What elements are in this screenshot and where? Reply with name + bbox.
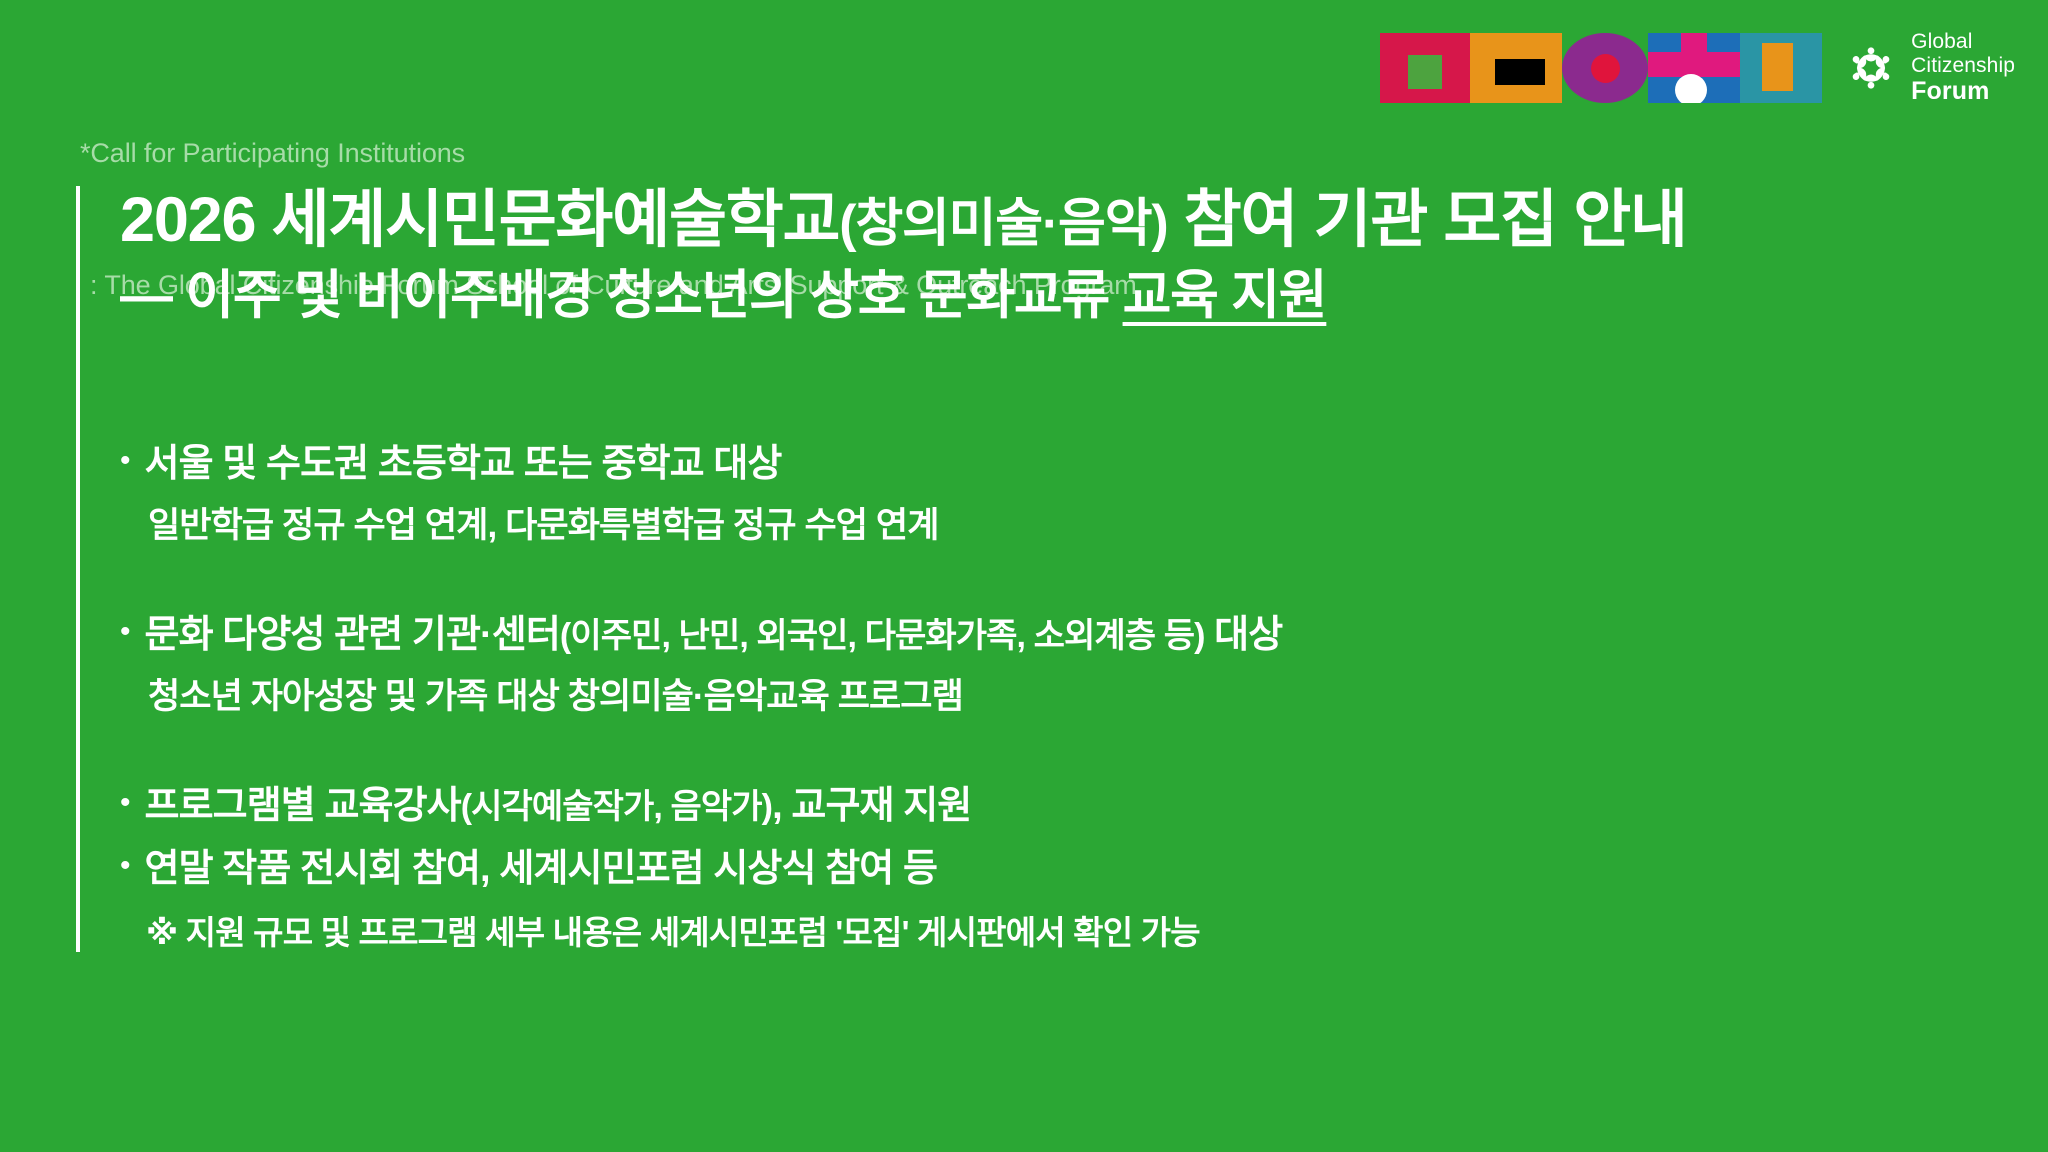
footnote-text: ※ 지원 규모 및 프로그램 세부 내용은 세계시민포럼 '모집' 게시판에서 …	[146, 914, 1200, 951]
kicker-line-1: *Call for Participating Institutions	[80, 132, 1137, 176]
headline-line-1-paren: (창의미술·음악)	[839, 195, 1167, 253]
left-vertical-rule	[76, 186, 80, 952]
bullet-text-2-main: 문화 다양성 관련 기관·센터	[145, 614, 560, 656]
bullet-text-3: 프로그램별 교육강사(시각예술작가, 음악가), 교구재 지원	[145, 779, 972, 834]
bullet-group-4: • 연말 작품 전시회 참여, 세계시민포럼 시상식 참여 등 ※ 지원 규모 …	[120, 842, 1920, 957]
bullet-text-3-tail: , 교구재 지원	[772, 785, 971, 827]
list-item: • 서울 및 수도권 초등학교 또는 중학교 대상	[120, 437, 1920, 492]
headline-line-2: — 이주 및 비이주배경 청소년의 상호 문화교류 교육 지원	[120, 262, 1687, 331]
global-citizenship-forum-logo: Global Citizenship Forum	[1844, 30, 2015, 105]
bullet-group-3: • 프로그램별 교육강사(시각예술작가, 음악가), 교구재 지원	[120, 779, 1920, 834]
logo-wordmark: Global Citizenship Forum	[1911, 30, 2015, 105]
block-square-crimson-inner	[1408, 55, 1442, 89]
block-rect-teal	[1740, 33, 1822, 103]
list-item: • 연말 작품 전시회 참여, 세계시민포럼 시상식 참여 등	[120, 842, 1920, 897]
bullet-group-2: • 문화 다양성 관련 기관·센터(이주민, 난민, 외국인, 다문화가족, 소…	[120, 608, 1920, 723]
headline-line-1-tail: 참여 기관 모집 안내	[1167, 185, 1686, 255]
bullet-group-1: • 서울 및 수도권 초등학교 또는 중학교 대상 일반학급 정규 수업 연계,…	[120, 437, 1920, 552]
bullet-text-4: 연말 작품 전시회 참여, 세계시민포럼 시상식 참여 등	[145, 842, 938, 897]
bullet-text-2-tail: 대상	[1205, 614, 1283, 656]
bullet-subline-2: 청소년 자아성장 및 가족 대상 창의미술·음악교육 프로그램	[148, 677, 963, 716]
block-cross-blue-dot	[1675, 74, 1707, 103]
bullet-subline-row-2: 청소년 자아성장 및 가족 대상 창의미술·음악교육 프로그램	[120, 672, 1920, 723]
headline-line-1: 2026 세계시민문화예술학교(창의미술·음악) 참여 기관 모집 안내	[120, 180, 1687, 262]
block-rect-teal-inner	[1762, 43, 1793, 91]
block-cross-blue-vertical	[1681, 33, 1707, 58]
global-citizenship-people-swirl-icon	[1844, 41, 1898, 95]
logo-text-forum: Forum	[1911, 77, 2015, 105]
list-item: • 문화 다양성 관련 기관·센터(이주민, 난민, 외국인, 다문화가족, 소…	[120, 608, 1920, 663]
bullet-text-3-main: 프로그램별 교육강사	[145, 785, 461, 827]
block-square-crimson	[1380, 33, 1470, 103]
bullet-marker-icon: •	[120, 446, 131, 476]
headline-line-2-main: — 이주 및 비이주배경 청소년의 상호 문화교류	[120, 266, 1123, 325]
bullet-text-2-paren: (이주민, 난민, 외국인, 다문화가족, 소외계층 등)	[560, 617, 1205, 655]
bullet-marker-icon: •	[120, 617, 131, 647]
headline-line-2-underlined: 교육 지원	[1123, 266, 1327, 325]
headline-line-1-main: 2026 세계시민문화예술학교	[120, 185, 839, 255]
page-title: 2026 세계시민문화예술학교(창의미술·음악) 참여 기관 모집 안내 — 이…	[120, 180, 1687, 331]
bullet-text-1: 서울 및 수도권 초등학교 또는 중학교 대상	[145, 437, 782, 492]
logo-text-citizenship: Citizenship	[1911, 54, 2015, 78]
list-item: • 프로그램별 교육강사(시각예술작가, 음악가), 교구재 지원	[120, 779, 1920, 834]
footnote-row: ※ 지원 규모 및 프로그램 세부 내용은 세계시민포럼 '모집' 게시판에서 …	[120, 909, 1920, 957]
bullet-subline-1: 일반학급 정규 수업 연계, 다문화특별학급 정규 수업 연계	[148, 506, 939, 545]
bullet-text-2: 문화 다양성 관련 기관·센터(이주민, 난민, 외국인, 다문화가족, 소외계…	[145, 608, 1283, 663]
bullet-marker-icon: •	[120, 788, 131, 818]
bullet-marker-icon: •	[120, 851, 131, 881]
block-cross-blue	[1648, 33, 1740, 103]
brand-cluster: Global Citizenship Forum	[1380, 30, 2015, 105]
bullet-list: • 서울 및 수도권 초등학교 또는 중학교 대상 일반학급 정규 수업 연계,…	[120, 437, 1920, 957]
block-bar-orange-inner	[1495, 59, 1545, 85]
block-bar-orange	[1470, 33, 1562, 103]
block-circle-purple-inner	[1591, 54, 1620, 83]
logo-color-blocks	[1380, 33, 1822, 103]
block-circle-purple	[1562, 33, 1648, 103]
bullet-text-3-paren: (시각예술작가, 음악가)	[461, 788, 772, 826]
bullet-subline-row-1: 일반학급 정규 수업 연계, 다문화특별학급 정규 수업 연계	[120, 501, 1920, 552]
poster-canvas: *Call for Participating Institutions : T…	[0, 0, 2048, 1152]
logo-text-global: Global	[1911, 30, 2015, 54]
